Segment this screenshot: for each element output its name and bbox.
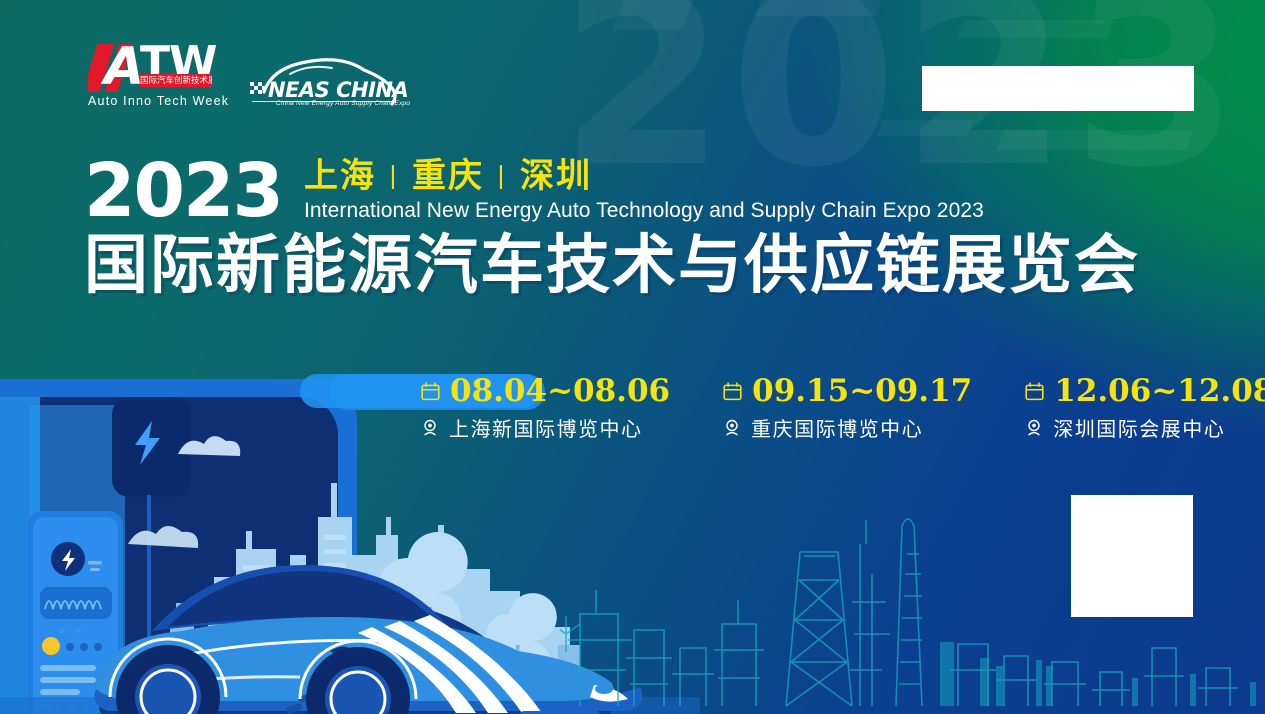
calendar-icon [722, 381, 743, 402]
atw-tagline: Auto Inno Tech Week [88, 94, 220, 108]
neas-wordmark: NEAS CHINA [268, 78, 408, 102]
headline-year: 2023 [84, 158, 282, 225]
location-pin-icon [722, 418, 742, 438]
city-chongqing: 重庆 [412, 157, 484, 195]
calendar-icon [1024, 381, 1045, 402]
city-shanghai: 上海 [304, 157, 376, 195]
neas-china-logo[interactable]: NEAS CHINA China New Energy Auto Supply … [250, 52, 400, 114]
atw-logo-mark: A TW 国际汽车创新技术展 [88, 42, 216, 92]
venue-place: 上海新国际博览中心 [449, 413, 643, 442]
english-subtitle: International New Energy Auto Technology… [304, 199, 984, 223]
decorative-streak [755, 0, 886, 16]
location-pin-icon [420, 418, 440, 438]
chinese-headline: 国际新能源汽车技术与供应链展览会 [84, 231, 1214, 300]
neas-checker-flag-icon [250, 82, 266, 94]
city-separator: 丨 [376, 163, 412, 193]
decorative-streak [877, 120, 973, 136]
decorative-streak [996, 130, 1194, 150]
decorative-streak [956, 20, 1113, 38]
atw-chinese-banner: 国际汽车创新技术展 [140, 74, 212, 87]
city-shenzhen: 深圳 [520, 157, 592, 195]
venue-card-chongqing: 09.15~09.17 重庆国际博览中心 [722, 374, 972, 442]
venue-date: 08.04~08.06 [450, 374, 670, 408]
atw-letter-a: A [104, 42, 142, 92]
venue-date: 09.15~09.17 [752, 374, 972, 408]
city-separator: 丨 [484, 163, 520, 193]
top-right-placeholder-box[interactable] [922, 66, 1194, 111]
logo-group: A TW 国际汽车创新技术展 Auto Inno Tech Week NEAS … [88, 42, 400, 114]
title-block: 2023 上海丨重庆丨深圳 International New Energy A… [84, 158, 1214, 300]
venue-card-shenzhen: 12.06~12.08 深圳国际会展中心 [1024, 374, 1265, 442]
venue-list: 08.04~08.06 上海新国际博览中心 09.15~09.17 [420, 374, 1265, 442]
venue-date: 12.06~12.08 [1054, 374, 1265, 408]
atw-logo[interactable]: A TW 国际汽车创新技术展 Auto Inno Tech Week [88, 42, 216, 114]
location-pin-icon [1024, 418, 1044, 438]
city-list: 上海丨重庆丨深圳 [304, 159, 984, 195]
venue-card-shanghai: 08.04~08.06 上海新国际博览中心 [420, 374, 670, 442]
neas-tagline: China New Energy Auto Supply Chain Expo [276, 100, 410, 107]
expo-banner: 2023 [0, 0, 1265, 714]
venue-place: 重庆国际博览中心 [751, 413, 923, 442]
calendar-icon [420, 381, 441, 402]
venue-place: 深圳国际会展中心 [1053, 413, 1225, 442]
qr-code-placeholder-box[interactable] [1071, 495, 1193, 617]
